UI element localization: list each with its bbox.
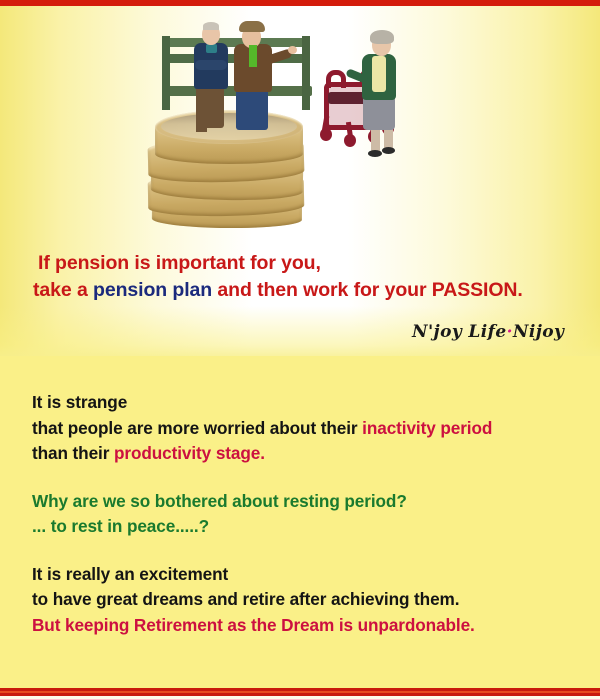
woman-shoe-right [382, 147, 395, 154]
bench-left-arm [162, 36, 170, 110]
woman-leg-left [371, 128, 380, 152]
man2-legs [236, 88, 268, 130]
paragraph-2-line-2: ... to rest in peace.....? [32, 514, 584, 540]
paragraph-1: It is strange that people are more worri… [32, 390, 584, 467]
bench-right-arm [302, 36, 310, 110]
paragraph-1-line-2-highlight: inactivity period [362, 418, 492, 438]
headline-line-2-part-a: take a [33, 279, 93, 301]
paragraph-1-line-3: than their productivity stage. [32, 441, 584, 467]
man2-green-scarf [249, 45, 257, 67]
headline-line-2-part-b: pension plan [93, 279, 212, 301]
paragraph-1-line-3-highlight: productivity stage. [114, 443, 265, 463]
headline-line-1-text: If pension is important for you, [38, 252, 321, 274]
paragraph-3-line-2: to have great dreams and retire after ac… [32, 587, 584, 613]
brand-logo-part-1: N'joy Life [412, 322, 507, 342]
poster-canvas: If pension is important for you, take a … [0, 0, 600, 699]
body-text-block: It is strange that people are more worri… [32, 390, 584, 638]
paragraph-2-line-1: Why are we so bothered about resting per… [32, 489, 584, 515]
man2-hand [288, 46, 297, 54]
woman-blouse [372, 56, 386, 92]
paragraph-1-line-2-part-a: that people are more worried about their [32, 418, 362, 438]
headline-line-2-part-c: and then work for your PASSION. [212, 279, 523, 301]
headline-block: If pension is important for you, take a … [38, 250, 583, 304]
paragraph-1-line-1: It is strange [32, 390, 584, 416]
woman-shoe-left [368, 150, 382, 157]
photo-scene [130, 10, 480, 225]
man1-lower-leg [196, 108, 207, 132]
paragraph-1-line-2: that people are more worried about their… [32, 416, 584, 442]
paragraph-2: Why are we so bothered about resting per… [32, 489, 584, 540]
brand-logo: N'joy Life·Nijoy [412, 322, 564, 342]
upper-panel: If pension is important for you, take a … [0, 6, 600, 356]
walker-handle-left [326, 70, 346, 88]
paragraph-3-line-3: But keeping Retirement as the Dream is u… [32, 613, 584, 639]
man1-collar [206, 44, 217, 53]
man1-hair [203, 22, 219, 30]
headline-line-1: If pension is important for you, [38, 250, 583, 277]
man1-folded-arms [195, 60, 227, 70]
woman-hair [370, 30, 394, 44]
headline-line-2: take a pension plan and then work for yo… [33, 277, 583, 304]
bottom-red-rule-highlight [0, 691, 600, 693]
woman-skirt [363, 96, 395, 130]
coin-top-rim [161, 113, 297, 140]
walker-wheel-2 [344, 134, 356, 147]
paragraph-3-line-1: It is really an excitement [32, 562, 584, 588]
brand-logo-part-2: Nijoy [513, 322, 564, 342]
paragraph-3: It is really an excitement to have great… [32, 562, 584, 639]
paragraph-1-line-3-part-a: than their [32, 443, 114, 463]
man2-flat-cap [239, 21, 265, 32]
